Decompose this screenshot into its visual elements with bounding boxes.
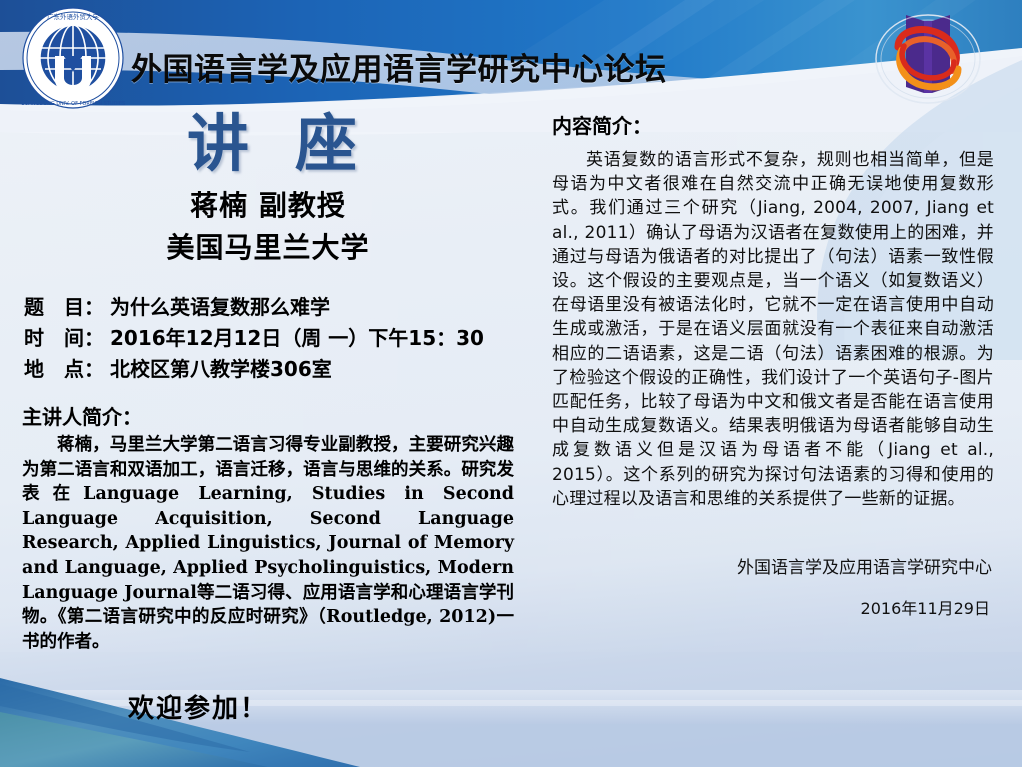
detail-value-venue: 北校区第八教学楼306室 xyxy=(110,357,332,381)
page-title: 外国语言学及应用语言学研究中心论坛 xyxy=(131,44,667,89)
left-column: 讲座 蒋楠 副教授 美国马里兰大学 题 目：为什么英语复数那么难学 时 间：20… xyxy=(22,108,514,725)
detail-label-topic: 题 目： xyxy=(24,292,110,323)
right-column: 内容简介： 英语复数的语言形式不复杂，规则也相当简单，但是母语为中文者很难在自然… xyxy=(552,112,994,621)
abstract-body: 英语复数的语言形式不复杂，规则也相当简单，但是母语为中文者很难在自然交流中正确无… xyxy=(552,148,994,511)
detail-value-topic: 为什么英语复数那么难学 xyxy=(110,295,330,319)
gdufs-university-logo-icon: 广东外语外贸大学 GUANGDONG UNIV. OF FOREIGN STUD… xyxy=(21,6,125,110)
publish-date: 2016年11月29日 xyxy=(552,597,994,621)
event-detail-list: 题 目：为什么英语复数那么难学 时 间：2016年12月12日（周 一）下午15… xyxy=(22,292,514,385)
organizer-line: 外国语言学及应用语言学研究中心 xyxy=(552,555,994,581)
detail-value-time: 2016年12月12日（周 一）下午15：30 xyxy=(110,326,484,350)
welcome-message: 欢迎参加！ xyxy=(22,688,514,725)
poster-header: 广东外语外贸大学 GUANGDONG UNIV. OF FOREIGN STUD… xyxy=(0,0,1022,120)
research-center-logo-icon xyxy=(868,7,988,111)
detail-row-topic: 题 目：为什么英语复数那么难学 xyxy=(24,292,514,323)
svg-text:GUANGDONG UNIV. OF FOREIGN STU: GUANGDONG UNIV. OF FOREIGN STUDIES xyxy=(21,101,125,107)
lecture-poster: 广东外语外贸大学 GUANGDONG UNIV. OF FOREIGN STUD… xyxy=(0,0,1022,767)
speaker-bio-heading: 主讲人简介： xyxy=(22,403,514,431)
detail-label-venue: 地 点： xyxy=(24,354,110,385)
detail-row-time: 时 间：2016年12月12日（周 一）下午15：30 xyxy=(24,323,514,354)
speaker-bio-body: 蒋楠，马里兰大学第二语言习得专业副教授，主要研究兴趣为第二语言和双语加工，语言迁… xyxy=(22,433,514,654)
abstract-heading: 内容简介： xyxy=(552,112,994,140)
speaker-affiliation: 美国马里兰大学 xyxy=(22,228,514,268)
lecture-heading: 讲座 xyxy=(22,108,514,180)
detail-row-venue: 地 点：北校区第八教学楼306室 xyxy=(24,354,514,385)
svg-text:广东外语外贸大学: 广东外语外贸大学 xyxy=(47,12,100,21)
detail-label-time: 时 间： xyxy=(24,323,110,354)
speaker-name: 蒋楠 副教授 xyxy=(22,186,514,226)
